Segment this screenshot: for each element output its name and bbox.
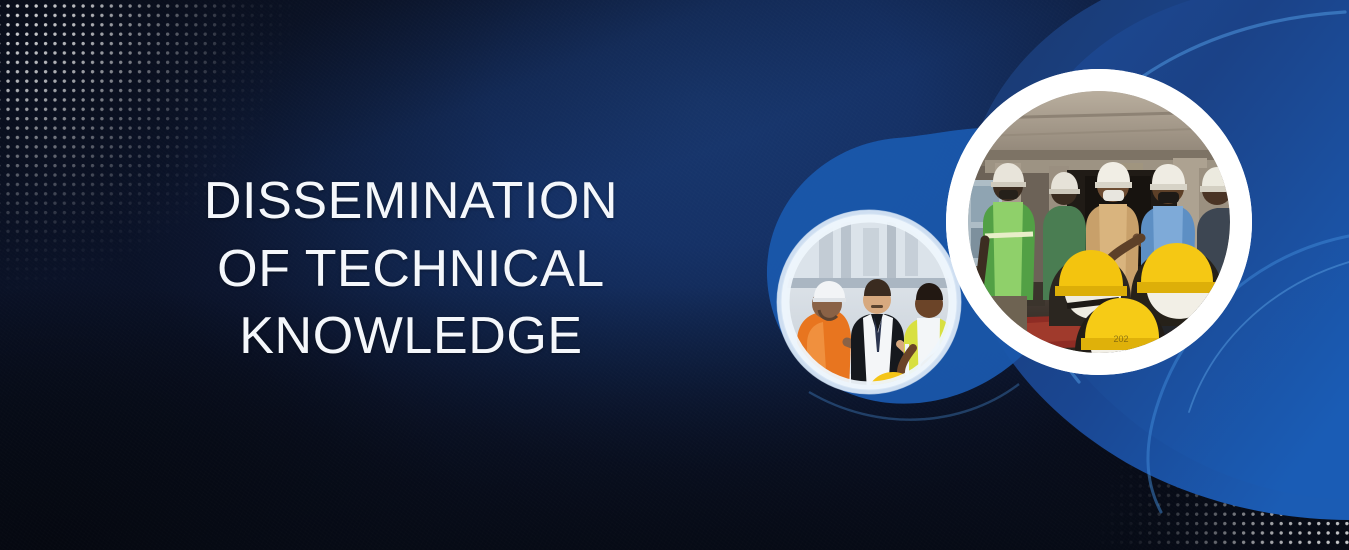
svg-text:202: 202 [1113, 334, 1128, 344]
artwork-svg: 202 [749, 0, 1349, 550]
page-title: DISSEMINATION OF TECHNICAL KNOWLEDGE [118, 168, 704, 371]
decorative-artwork-group: 202 [749, 0, 1349, 550]
banner-root: DISSEMINATION OF TECHNICAL KNOWLEDGE [0, 0, 1349, 550]
headline-line-2: OF TECHNICAL [118, 236, 704, 304]
headline-line-3: KNOWLEDGE [118, 303, 704, 371]
headline-line-1: DISSEMINATION [118, 168, 704, 236]
